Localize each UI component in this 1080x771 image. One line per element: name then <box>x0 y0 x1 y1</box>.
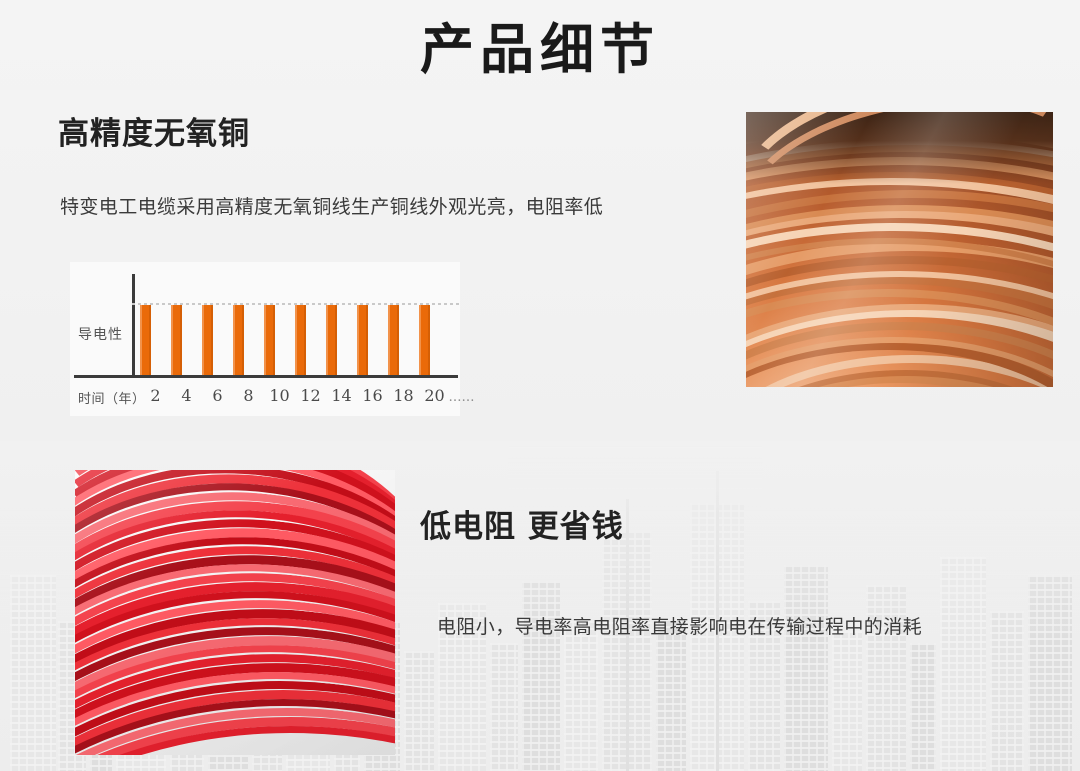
chart-bar <box>326 305 337 375</box>
chart-bar <box>202 305 213 375</box>
chart-plot-area <box>132 274 454 378</box>
chart-y-axis-label: 导电性 <box>78 324 123 344</box>
chart-bar <box>388 305 399 375</box>
chart-bar <box>140 305 151 375</box>
chart-bar <box>357 305 368 375</box>
chart-y-axis <box>132 274 135 378</box>
conductivity-chart: 导电性 时间（年） 2468101214161820…… <box>70 262 460 416</box>
product-detail-page: 产品细节 高精度无氧铜 特变电工电缆采用高精度无氧铜线生产铜线外观光亮，电阻率低… <box>0 0 1080 771</box>
chart-x-ticks: 2468101214161820…… <box>134 386 456 406</box>
copper-wire-coil-photo <box>746 112 1053 387</box>
chart-x-tick: 12 <box>300 386 320 405</box>
section-1-heading: 高精度无氧铜 <box>58 114 250 154</box>
chart-bar <box>419 305 430 375</box>
chart-x-tick: 2 <box>150 386 160 405</box>
chart-x-tick: 4 <box>181 386 191 405</box>
chart-x-tick: 18 <box>393 386 413 405</box>
section-2-heading: 低电阻 更省钱 <box>420 506 624 548</box>
chart-x-tick: 20 <box>424 386 444 405</box>
chart-x-tick: 16 <box>362 386 382 405</box>
chart-x-tick: 10 <box>269 386 289 405</box>
chart-bars <box>140 305 454 375</box>
chart-x-axis <box>74 375 458 378</box>
page-title: 产品细节 <box>0 18 1080 80</box>
chart-bar <box>295 305 306 375</box>
chart-x-tick: 14 <box>331 386 351 405</box>
section-1-body: 特变电工电缆采用高精度无氧铜线生产铜线外观光亮，电阻率低 <box>60 192 603 222</box>
chart-x-tick: 6 <box>212 386 222 405</box>
section-2-body: 电阻小，导电率高电阻率直接影响电在传输过程中的消耗 <box>437 612 922 642</box>
chart-bar <box>171 305 182 375</box>
chart-x-tick: 8 <box>243 386 253 405</box>
red-cable-coil-photo <box>75 470 395 755</box>
chart-bar <box>233 305 244 375</box>
chart-bar <box>264 305 275 375</box>
chart-x-tick-ellipsis: …… <box>449 390 475 405</box>
